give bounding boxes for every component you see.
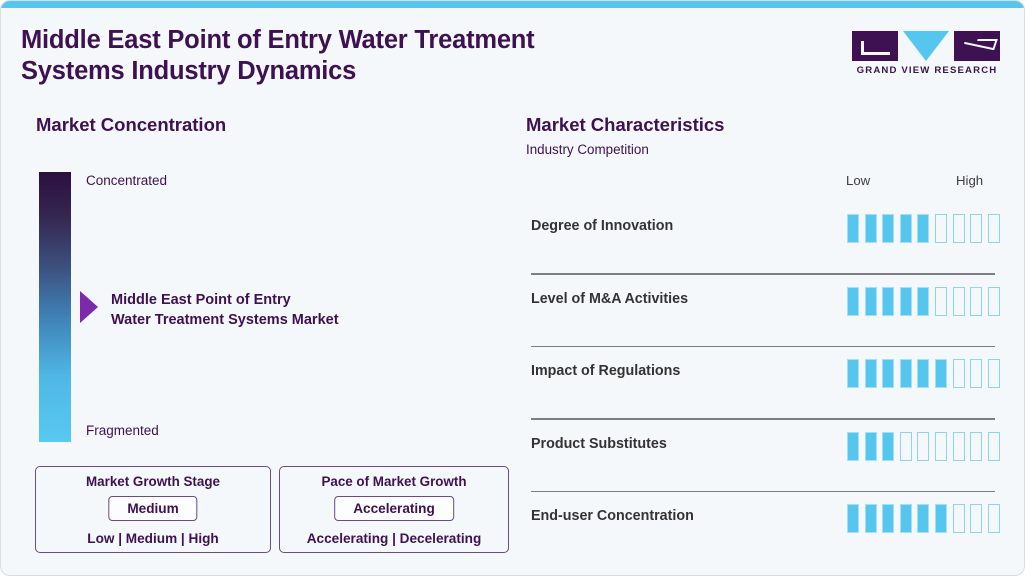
header: Middle East Point of Entry Water Treatme… bbox=[1, 8, 1025, 98]
characteristic-label: Level of M&A Activities bbox=[531, 291, 688, 307]
logo-wordmark: GRAND VIEW RESEARCH bbox=[852, 65, 1002, 76]
market-concentration-panel: Market Concentration Concentrated Fragme… bbox=[1, 98, 509, 576]
rating-segment-filled bbox=[865, 504, 877, 533]
rating-segment-filled bbox=[847, 287, 859, 316]
rating-segment-empty bbox=[988, 504, 1000, 533]
rating-segment-empty bbox=[988, 214, 1000, 243]
rating-segment-filled bbox=[900, 504, 912, 533]
rating-segment-filled bbox=[865, 287, 877, 316]
logo-v-triangle-icon bbox=[903, 31, 949, 61]
market-position-label: Middle East Point of Entry Water Treatme… bbox=[111, 290, 441, 330]
rating-segment-filled bbox=[917, 359, 929, 388]
market-characteristics-rows: Degree of InnovationLevel of M&A Activit… bbox=[509, 202, 1025, 565]
scale-label-fragmented: Fragmented bbox=[86, 423, 159, 438]
page-title-line-2: Systems Industry Dynamics bbox=[21, 56, 721, 87]
rating-segment-empty bbox=[970, 359, 982, 388]
characteristic-label: Degree of Innovation bbox=[531, 218, 673, 234]
rating-segment-empty bbox=[970, 287, 982, 316]
rating-segment-filled bbox=[935, 359, 947, 388]
characteristic-rating-bars bbox=[847, 432, 1000, 461]
rating-segment-filled bbox=[847, 359, 859, 388]
characteristic-rating-bars bbox=[847, 504, 1000, 533]
scale-axis-label-high: High bbox=[956, 173, 983, 188]
rating-segment-empty bbox=[970, 504, 982, 533]
market-growth-stage-value: Medium bbox=[108, 496, 197, 521]
logo-r-block-icon bbox=[954, 31, 1000, 61]
characteristic-row: Product Substitutes bbox=[509, 420, 1025, 493]
characteristic-label: End-user Concentration bbox=[531, 508, 694, 524]
page-title: Middle East Point of Entry Water Treatme… bbox=[21, 25, 721, 87]
rating-segment-empty bbox=[953, 214, 965, 243]
rating-segment-empty bbox=[988, 287, 1000, 316]
rating-segment-empty bbox=[988, 432, 1000, 461]
logo-g-block-icon bbox=[852, 31, 898, 61]
market-position-label-line-2: Water Treatment Systems Market bbox=[111, 310, 441, 330]
rating-segment-filled bbox=[882, 287, 894, 316]
characteristic-row: End-user Concentration bbox=[509, 492, 1025, 565]
rating-segment-filled bbox=[847, 214, 859, 243]
pace-of-market-growth-value: Accelerating bbox=[334, 496, 454, 521]
rating-segment-filled bbox=[865, 432, 877, 461]
characteristic-rating-bars bbox=[847, 359, 1000, 388]
rating-segment-empty bbox=[917, 432, 929, 461]
characteristic-row: Degree of Innovation bbox=[509, 202, 1025, 275]
characteristic-row: Impact of Regulations bbox=[509, 347, 1025, 420]
rating-segment-empty bbox=[935, 287, 947, 316]
market-characteristics-subheading: Industry Competition bbox=[526, 142, 649, 157]
market-characteristics-panel: Market Characteristics Industry Competit… bbox=[509, 98, 1025, 576]
rating-segment-empty bbox=[935, 432, 947, 461]
rating-segment-filled bbox=[917, 214, 929, 243]
characteristic-label: Impact of Regulations bbox=[531, 363, 680, 379]
rating-segment-filled bbox=[865, 359, 877, 388]
rating-segment-filled bbox=[847, 432, 859, 461]
rating-segment-empty bbox=[953, 287, 965, 316]
pace-of-market-growth-card: Pace of Market Growth Accelerating Accel… bbox=[279, 466, 509, 553]
market-growth-stage-card: Market Growth Stage Medium Low | Medium … bbox=[35, 466, 271, 553]
rating-segment-empty bbox=[970, 432, 982, 461]
rating-segment-filled bbox=[900, 359, 912, 388]
market-characteristics-heading: Market Characteristics bbox=[526, 114, 724, 136]
characteristic-rating-bars bbox=[847, 287, 1000, 316]
rating-segment-empty bbox=[970, 214, 982, 243]
logo-marks bbox=[852, 31, 1000, 61]
rating-segment-empty bbox=[988, 359, 1000, 388]
rating-segment-filled bbox=[917, 287, 929, 316]
characteristic-rating-bars bbox=[847, 214, 1000, 243]
grand-view-research-logo: GRAND VIEW RESEARCH bbox=[852, 31, 1002, 83]
rating-segment-filled bbox=[882, 504, 894, 533]
market-concentration-heading: Market Concentration bbox=[36, 114, 226, 136]
market-growth-stage-options: Low | Medium | High bbox=[36, 531, 270, 546]
market-position-label-line-1: Middle East Point of Entry bbox=[111, 290, 441, 310]
characteristic-row: Level of M&A Activities bbox=[509, 275, 1025, 348]
rating-segment-filled bbox=[847, 504, 859, 533]
infographic-root: Middle East Point of Entry Water Treatme… bbox=[0, 0, 1025, 576]
characteristic-label: Product Substitutes bbox=[531, 436, 667, 452]
rating-segment-filled bbox=[882, 214, 894, 243]
rating-segment-filled bbox=[935, 504, 947, 533]
pace-of-market-growth-options: Accelerating | Decelerating bbox=[280, 531, 508, 546]
rating-segment-empty bbox=[953, 504, 965, 533]
rating-segment-empty bbox=[953, 432, 965, 461]
scale-axis-label-low: Low bbox=[846, 173, 870, 188]
rating-segment-empty bbox=[953, 359, 965, 388]
page-title-line-1: Middle East Point of Entry Water Treatme… bbox=[21, 25, 721, 56]
rating-segment-filled bbox=[865, 214, 877, 243]
concentration-gradient-scale bbox=[39, 172, 71, 442]
pace-of-market-growth-title: Pace of Market Growth bbox=[280, 474, 508, 489]
scale-label-concentrated: Concentrated bbox=[86, 173, 167, 188]
rating-segment-filled bbox=[882, 359, 894, 388]
rating-segment-filled bbox=[917, 504, 929, 533]
rating-segment-filled bbox=[882, 432, 894, 461]
market-growth-stage-title: Market Growth Stage bbox=[36, 474, 270, 489]
rating-segment-empty bbox=[900, 432, 912, 461]
top-accent-bar bbox=[1, 1, 1025, 8]
rating-segment-filled bbox=[900, 287, 912, 316]
rating-segment-filled bbox=[900, 214, 912, 243]
market-position-arrow-icon bbox=[80, 291, 98, 323]
rating-segment-empty bbox=[935, 214, 947, 243]
